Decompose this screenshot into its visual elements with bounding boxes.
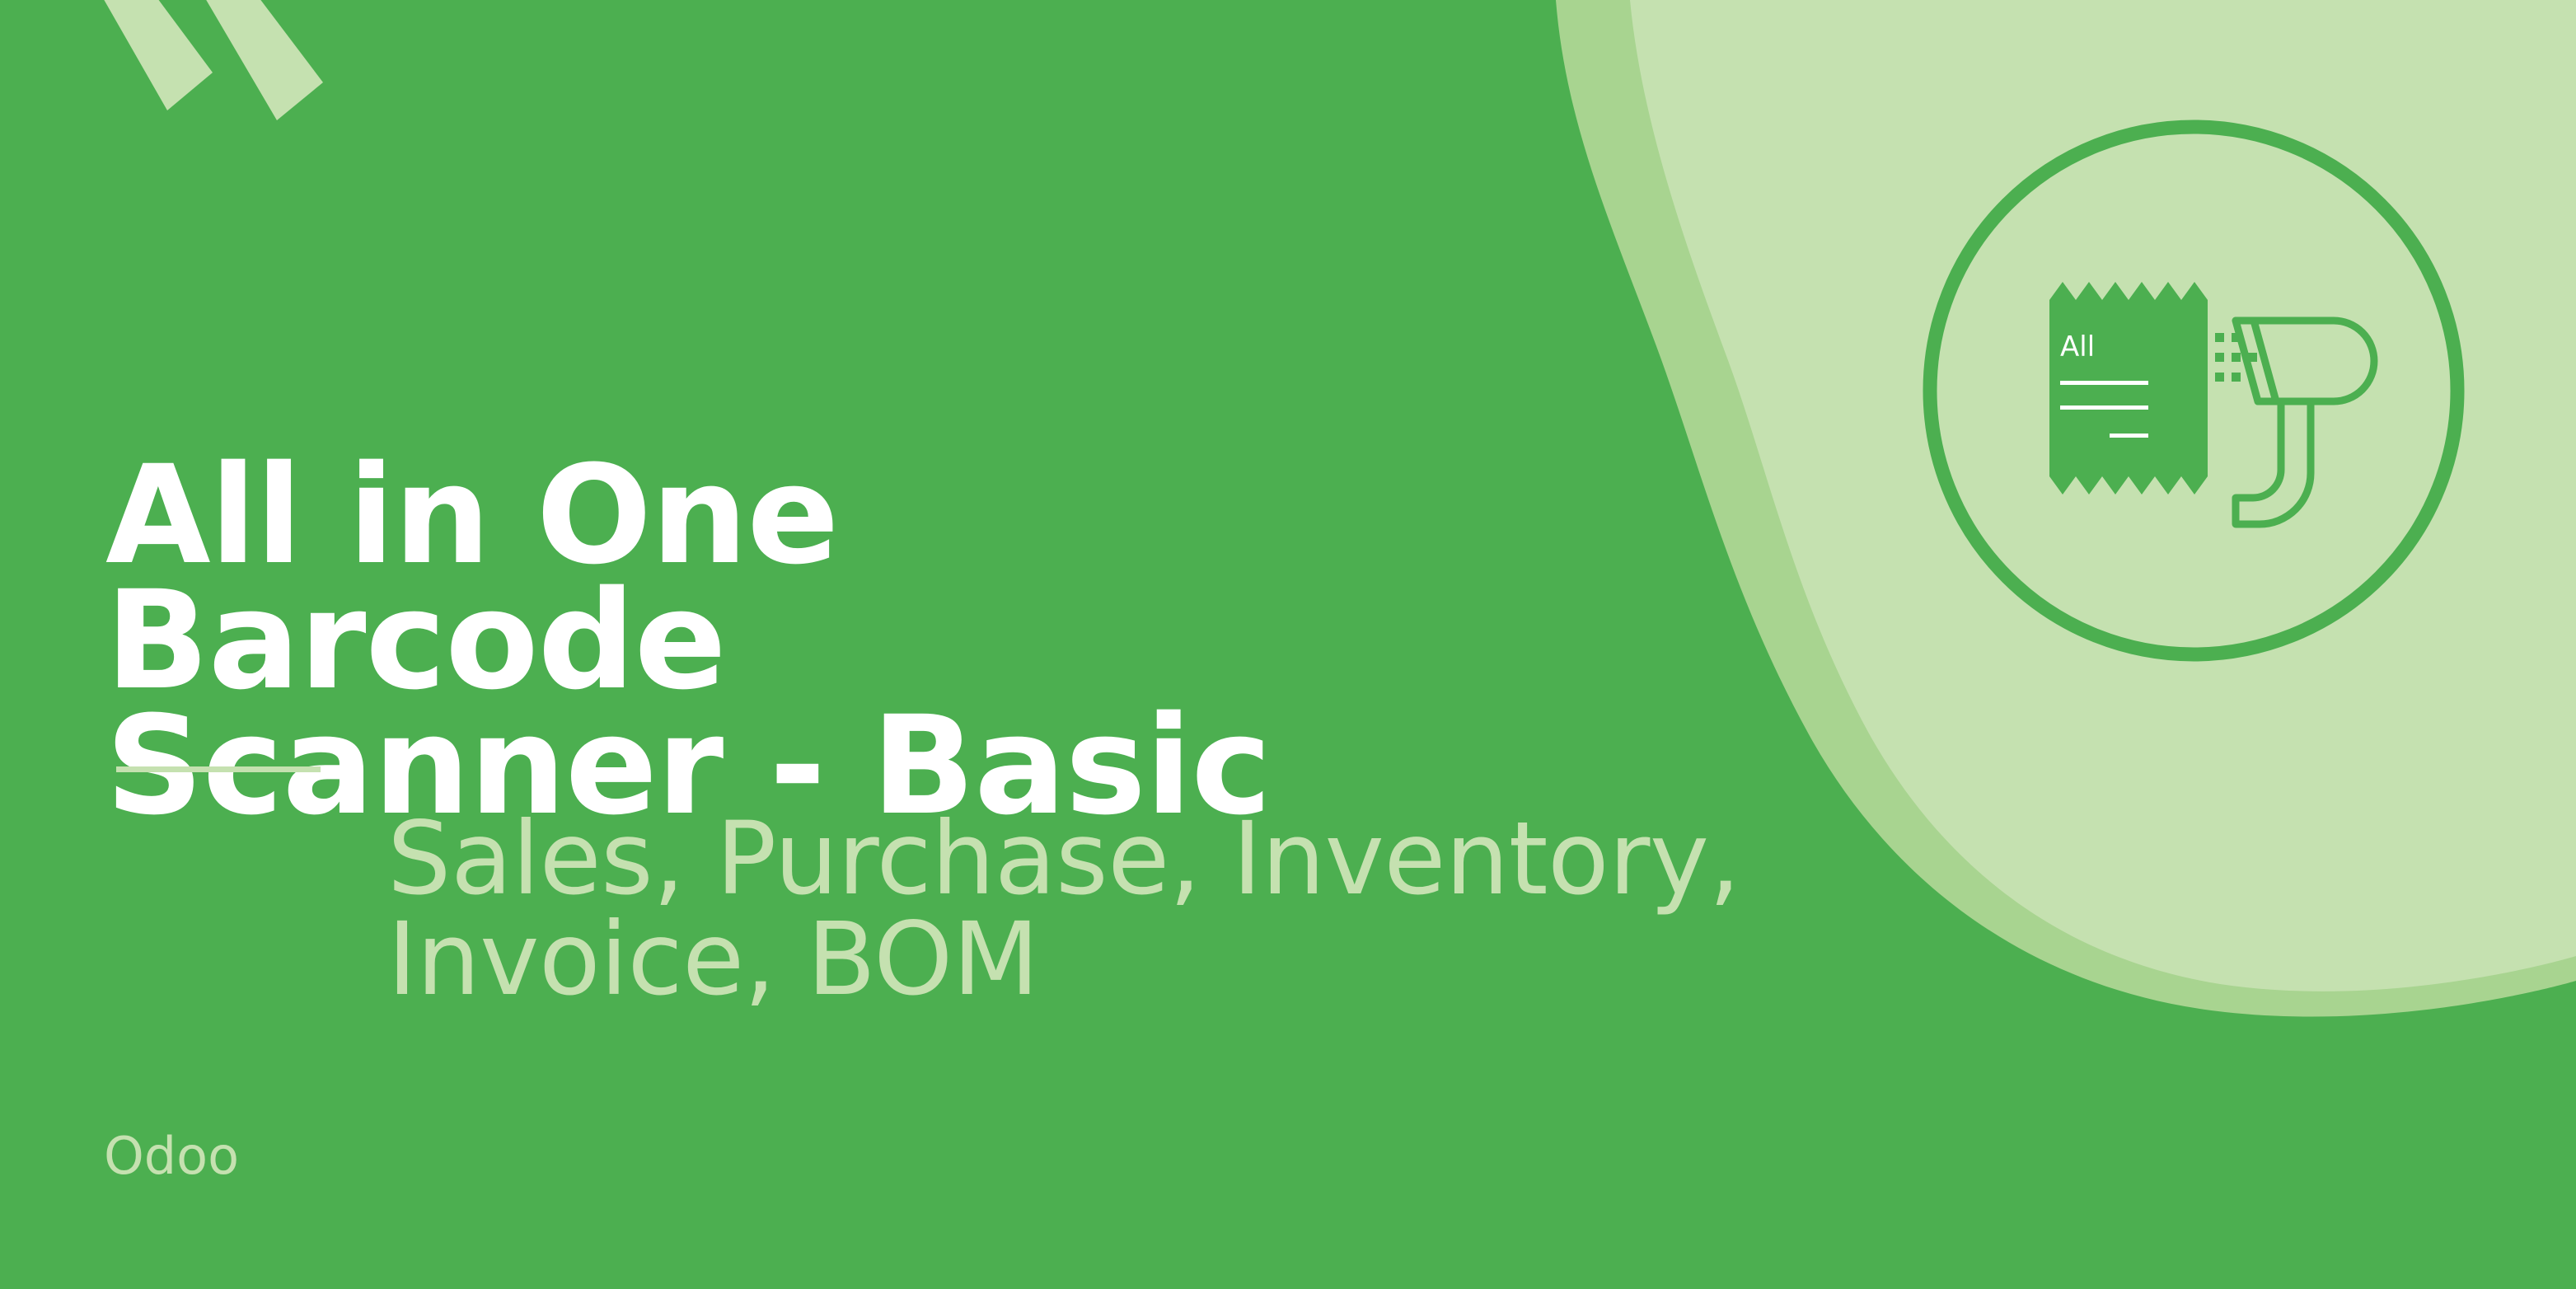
page-subtitle: Sales, Purchase, Inventory, Invoice, BOM: [387, 809, 1772, 1010]
title-divider-rule: [116, 766, 321, 772]
brand-label: Odoo: [104, 1131, 239, 1182]
text-content: All in One Barcode Scanner - Basic Sales…: [0, 0, 2576, 1289]
banner-card: All: [0, 0, 2576, 1289]
